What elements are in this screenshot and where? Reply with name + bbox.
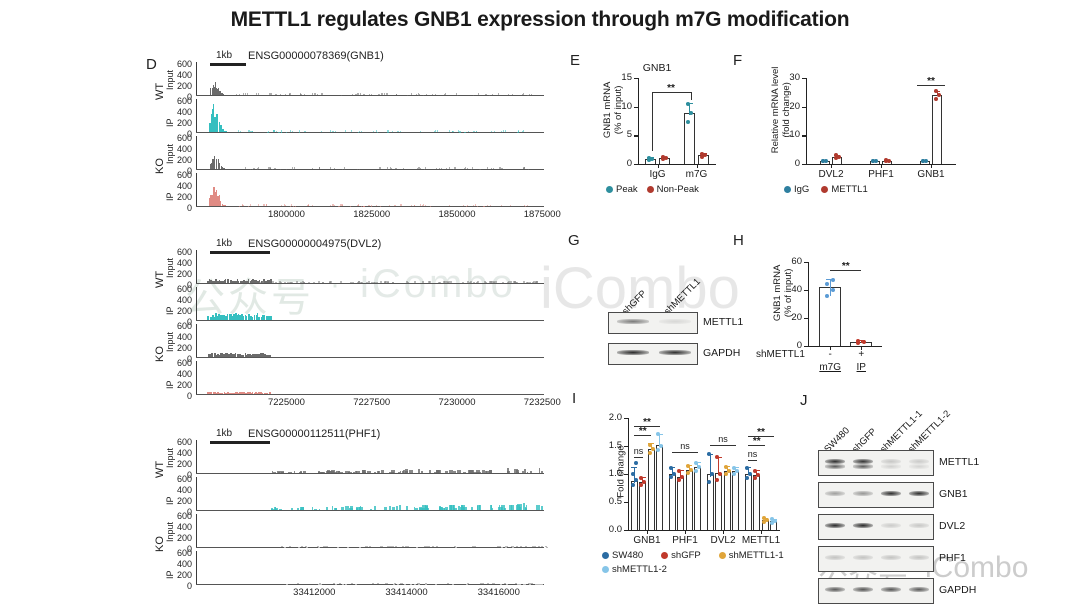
panel-i-legend: SW480shGFPshMETTL1-1shMETTL1-2 xyxy=(602,550,802,575)
xaxis-0-1 xyxy=(196,132,544,133)
ytick-2-3-1: 400 xyxy=(170,559,192,569)
ytick-2-0-0: 600 xyxy=(170,437,192,447)
peak-bar xyxy=(330,471,334,473)
peak-bar xyxy=(277,471,281,473)
peak-bar xyxy=(289,282,291,283)
bar-PHF1-shMETTL1-2 xyxy=(694,467,701,530)
peak-bar xyxy=(391,168,392,170)
panelJ-band-GAPDH-shMETTL1-1 xyxy=(881,587,902,593)
datapoint-h-0-0 xyxy=(825,294,829,298)
peak-bar xyxy=(281,546,283,547)
peak-bar xyxy=(498,93,499,95)
panelJ-band-DVL2-shMETTL1-2 xyxy=(909,523,930,529)
xtick-2-2: 33416000 xyxy=(465,587,533,598)
panel-h-chart: 0204060GNB1 mRNA(% of input)-m7G+IPshMET… xyxy=(760,248,900,373)
peak-bar xyxy=(514,281,516,283)
panelI-xlabel-3: METTL1 xyxy=(727,535,795,546)
panelJ-band-GAPDH-shMETTL1-2 xyxy=(909,587,930,593)
peak-bar xyxy=(339,583,341,584)
peak-bar xyxy=(287,282,289,283)
peak-bar xyxy=(501,168,502,169)
peak-bar xyxy=(314,509,318,510)
panel-i-chart: 0.00.51.01.52.0GNB1PHF1DVL2METTL1Fold ch… xyxy=(596,404,791,559)
peak-bar xyxy=(445,507,448,510)
peak-bar xyxy=(273,472,276,473)
peak-bar xyxy=(317,94,318,95)
peak-bar xyxy=(285,205,286,206)
peak-bar xyxy=(262,393,264,394)
peak-bar xyxy=(414,281,416,283)
peak-bar xyxy=(292,131,293,132)
peak-bar xyxy=(522,131,523,132)
peak-bar xyxy=(361,131,362,132)
panelJ-band-GNB1-shMETTL1-2 xyxy=(909,491,930,497)
panelH-ytickmark-2 xyxy=(804,290,808,291)
panelH-ytitle: GNB1 mRNA(% of input) xyxy=(773,243,795,343)
peak-bar xyxy=(381,546,383,547)
panel-e-legend-dot-1 xyxy=(647,186,654,193)
peak-bar xyxy=(372,583,374,584)
panel-e-legend: PeakNon-Peak xyxy=(606,184,736,195)
xaxis-1-3 xyxy=(196,394,544,395)
peak-bar xyxy=(435,130,436,132)
signal-2-1 xyxy=(197,477,543,510)
ytick-1-1-0: 600 xyxy=(170,284,192,294)
sig-line-i-mettl1-ns xyxy=(748,460,757,461)
sig-label-i-gnb1-b: ** xyxy=(629,417,665,428)
datapoint-GNB1-METTL1 xyxy=(937,93,941,97)
peak-bar xyxy=(487,205,488,206)
peak-bar xyxy=(252,131,253,132)
datapoint-PHF1-shGFP xyxy=(680,475,684,479)
panelJ-blot-name-GNB1: GNB1 xyxy=(939,488,968,500)
peak-bar xyxy=(448,281,450,283)
peak-bar xyxy=(454,167,455,169)
panel-i-legend-label-3: shMETTL1-2 xyxy=(612,564,667,575)
peak-bar xyxy=(215,279,217,283)
panelJ-band-PHF1-SW480 xyxy=(825,555,846,561)
peak-bar xyxy=(516,470,519,473)
panelI-ylabel-0: 0.0 xyxy=(590,524,622,535)
peak-bar xyxy=(539,468,540,473)
peak-bar xyxy=(492,508,493,510)
peak-bar xyxy=(351,130,352,132)
panel-letter-f: F xyxy=(733,52,742,69)
peak-bar xyxy=(254,168,255,169)
panelJ-blot-box-METTL1 xyxy=(818,450,934,476)
peak-bar xyxy=(294,167,295,169)
datapoint-DVL2-shGFP xyxy=(715,478,719,482)
track-title-1: ENSG00000004975(DVL2) xyxy=(248,238,381,250)
ytick-2-1-1: 400 xyxy=(170,485,192,495)
panelJ-band2-METTL1-shGFP xyxy=(853,464,874,469)
peak-bar xyxy=(449,470,453,473)
peak-bar xyxy=(476,131,477,132)
datapoint-GNB1-METTL1 xyxy=(934,97,938,101)
xtick-0-3: 1875000 xyxy=(508,209,576,220)
panel-i-legend-item-3: shMETTL1-2 xyxy=(602,564,667,575)
ytick-1-2-0: 600 xyxy=(170,321,192,331)
ytick-0-2-2: 200 xyxy=(170,155,192,165)
panelH-ytitle-line-1: (% of input) xyxy=(784,243,795,343)
peak-bar xyxy=(330,130,331,132)
peak-bar xyxy=(323,546,325,547)
peak-bar xyxy=(516,546,518,547)
datapoint-GNB1-SW480 xyxy=(631,483,635,487)
peak-bar xyxy=(445,93,446,95)
peak-bar xyxy=(262,281,264,283)
panel-i-legend-item-0: SW480 xyxy=(602,550,643,561)
peak-bar xyxy=(321,131,322,132)
panelI-xaxis xyxy=(628,530,780,531)
peak-bar xyxy=(491,131,492,132)
peak-bar xyxy=(466,584,468,585)
peak-bar xyxy=(473,282,475,283)
sig-label-i-mettl1-ns: ns xyxy=(735,449,771,459)
peak-bar xyxy=(304,94,305,95)
panel-i-legend-dot-1 xyxy=(661,552,668,559)
peak-bar xyxy=(499,505,501,510)
peak-bar xyxy=(250,204,251,206)
peak-bar xyxy=(216,159,217,169)
xaxis-0-0 xyxy=(196,95,544,96)
peak-bar xyxy=(380,281,382,283)
xaxis-2-3 xyxy=(196,584,544,585)
peak-bar xyxy=(224,205,225,206)
datapoint-IgG-Peak xyxy=(647,156,651,160)
ytick-0-0-1: 400 xyxy=(170,70,192,80)
peak-bar xyxy=(256,93,257,95)
peak-bar xyxy=(491,168,492,169)
peak-bar xyxy=(471,470,475,473)
peak-bar xyxy=(399,505,402,510)
panelJ-band-DVL2-shGFP xyxy=(853,523,874,529)
peak-bar xyxy=(418,167,419,169)
xaxis-0-3 xyxy=(196,206,544,207)
peak-bar xyxy=(463,472,466,473)
panelH-ytickmark-1 xyxy=(804,318,808,319)
peak-bar xyxy=(288,472,292,473)
panel-f-legend-dot-1 xyxy=(821,186,828,193)
panel-letter-d: D xyxy=(146,56,157,73)
peak-bar xyxy=(518,130,519,132)
bar-METTL1-shGFP xyxy=(753,475,760,530)
panelG-blot-name-METTL1: METTL1 xyxy=(703,316,743,328)
panelJ-band-PHF1-shMETTL1-2 xyxy=(909,555,930,561)
panelG-blot-box-GAPDH xyxy=(608,343,698,365)
panelE-ytitle-line-1: (% of input) xyxy=(614,60,625,160)
panelG-band-GAPDH-shGFP xyxy=(617,350,648,355)
peak-bar xyxy=(467,168,468,169)
peak-bar xyxy=(366,282,368,283)
peak-bar xyxy=(471,507,473,510)
peak-bar xyxy=(304,131,305,132)
peak-bar xyxy=(439,282,441,283)
panel-e-legend-dot-0 xyxy=(606,186,613,193)
ytick-2-2-0: 600 xyxy=(170,511,192,521)
ytick-0-0-0: 600 xyxy=(170,59,192,69)
peak-bar xyxy=(507,471,510,473)
bar-PHF1-shMETTL1-1 xyxy=(686,470,693,530)
peak-bar xyxy=(366,546,368,547)
peak-bar xyxy=(454,508,458,510)
peak-bar xyxy=(332,506,333,510)
peak-bar xyxy=(359,131,360,132)
peak-bar xyxy=(381,470,383,473)
xaxis-2-2 xyxy=(196,547,544,548)
panel-i-legend-label-0: SW480 xyxy=(612,550,643,561)
panel-e-legend-item-0: Peak xyxy=(606,184,638,195)
panel-letter-g: G xyxy=(568,232,580,249)
panelF-xtickmark-0 xyxy=(831,164,832,168)
sig-label-i-gnb1-ns: ns xyxy=(621,446,657,456)
peak-bar xyxy=(319,509,321,510)
sig-label-h-main: ** xyxy=(828,261,864,272)
peak-bar xyxy=(414,205,415,206)
peak-bar xyxy=(266,204,267,206)
peak-bar xyxy=(531,583,533,584)
peak-bar xyxy=(475,204,476,206)
xtick-1-2: 7230000 xyxy=(423,397,491,408)
peak-bar xyxy=(489,281,491,283)
peak-bar xyxy=(332,131,333,132)
peak-bar xyxy=(468,131,469,132)
panelJ-blot-name-DVL2: DVL2 xyxy=(939,520,965,532)
panel-e-legend-item-1: Non-Peak xyxy=(647,184,699,195)
ytick-0-1-0: 600 xyxy=(170,96,192,106)
panelG-band-GAPDH-shMETTL1 xyxy=(659,350,690,355)
peak-bar xyxy=(312,93,313,95)
ytick-1-2-2: 200 xyxy=(170,343,192,353)
bar-GNB1-shGFP xyxy=(639,482,646,530)
peak-bar xyxy=(345,130,346,132)
panel-f-legend-item-1: METTL1 xyxy=(821,184,867,195)
peak-bar xyxy=(497,546,499,547)
peak-bar xyxy=(273,130,274,132)
peak-bar xyxy=(289,546,291,547)
peak-bar xyxy=(294,471,296,473)
peak-bar xyxy=(361,282,363,283)
ytick-1-2-1: 400 xyxy=(170,332,192,342)
peak-bar xyxy=(341,507,343,510)
peak-bar xyxy=(239,315,241,320)
peak-bar xyxy=(447,583,449,584)
panel-letter-i: I xyxy=(572,390,576,407)
peak-bar xyxy=(387,282,389,283)
peak-bar xyxy=(225,131,226,132)
peak-bar xyxy=(279,509,282,510)
ytick-2-1-0: 600 xyxy=(170,474,192,484)
peak-bar xyxy=(242,205,243,206)
panel-e-legend-label-0: Peak xyxy=(616,184,638,195)
peak-bar xyxy=(477,472,481,473)
panelF-ytickmark-1 xyxy=(802,135,806,136)
ytick-0-3-2: 200 xyxy=(170,192,192,202)
peak-bar xyxy=(520,546,522,547)
peak-bar xyxy=(370,509,372,510)
peak-bar xyxy=(420,204,421,206)
panelF-xtickmark-1 xyxy=(881,164,882,168)
peak-bar xyxy=(420,168,421,169)
ytick-0-1-1: 400 xyxy=(170,107,192,117)
ytick-1-0-1: 400 xyxy=(170,258,192,268)
peak-bar xyxy=(535,282,537,283)
peak-bar xyxy=(334,168,335,169)
peak-bar xyxy=(505,130,506,132)
peak-bar xyxy=(511,546,513,547)
panel-f-legend-dot-0 xyxy=(784,186,791,193)
panelH-condition-label: shMETTL1 xyxy=(756,349,805,360)
peak-bar xyxy=(313,282,315,283)
peak-bar xyxy=(425,583,427,584)
panelE-ytickmark-2 xyxy=(634,107,638,108)
peak-bar xyxy=(534,546,536,547)
peak-bar xyxy=(473,131,474,132)
ytick-2-2-2: 200 xyxy=(170,533,192,543)
xaxis-2-1 xyxy=(196,510,544,511)
peak-bar xyxy=(376,205,377,206)
peak-bar xyxy=(326,471,330,473)
signal-0-1 xyxy=(197,99,543,132)
signal-1-1 xyxy=(197,287,543,320)
peak-bar xyxy=(478,93,479,95)
peak-bar xyxy=(384,281,386,283)
peak-bar xyxy=(467,205,468,206)
ytick-1-0-2: 200 xyxy=(170,269,192,279)
panelJ-blot-box-GAPDH xyxy=(818,578,934,604)
peak-bar xyxy=(380,167,381,169)
bar-GNB1-shMETTL1-1 xyxy=(648,449,655,530)
peak-bar xyxy=(458,130,459,132)
peak-bar xyxy=(480,583,482,584)
peak-bar xyxy=(351,583,353,584)
xaxis-1-2 xyxy=(196,357,544,358)
peak-bar xyxy=(367,471,371,473)
panelJ-band2-METTL1-SW480 xyxy=(825,464,846,469)
peak-bar xyxy=(418,469,420,473)
ytick-0-1-2: 200 xyxy=(170,118,192,128)
peak-bar xyxy=(425,205,426,206)
xtick-1-3: 7232500 xyxy=(508,397,576,408)
xtick-2-1: 33414000 xyxy=(373,587,441,598)
ytick-2-0-1: 400 xyxy=(170,448,192,458)
ytick-0-2-1: 400 xyxy=(170,144,192,154)
ytick-0-2-0: 600 xyxy=(170,133,192,143)
peak-bar xyxy=(522,471,524,473)
panel-i-legend-item-2: shMETTL1-1 xyxy=(719,550,784,561)
peak-bar xyxy=(429,281,431,283)
peak-bar xyxy=(210,88,211,95)
peak-bar xyxy=(403,168,404,169)
peak-bar xyxy=(425,167,426,169)
peak-bar xyxy=(329,281,331,283)
peak-bar xyxy=(493,168,494,170)
peak-bar xyxy=(479,505,481,510)
peak-bar xyxy=(258,167,259,169)
peak-bar xyxy=(406,506,408,510)
peak-bar xyxy=(281,205,282,206)
sig-label-f-gnb1: ** xyxy=(913,76,949,87)
datapoint-GNB1-SW480 xyxy=(631,472,635,476)
peak-bar xyxy=(225,279,227,283)
peak-bar xyxy=(355,471,357,473)
peak-bar xyxy=(407,546,409,547)
peak-bar xyxy=(528,583,530,584)
peak-bar xyxy=(402,546,404,547)
peak-bar xyxy=(275,282,277,283)
peak-bar xyxy=(453,471,456,473)
peak-bar xyxy=(473,205,474,206)
panelJ-band-GNB1-shGFP xyxy=(853,491,874,497)
datapoint-h-1-2 xyxy=(856,339,860,343)
peak-bar xyxy=(482,470,485,473)
peak-bar xyxy=(386,93,387,95)
bar-GNB1-SW480 xyxy=(631,481,638,530)
peak-bar xyxy=(348,471,349,473)
panel-letter-h: H xyxy=(733,232,744,249)
panelJ-band-GNB1-shMETTL1-1 xyxy=(881,491,902,497)
bar-PHF1-shGFP xyxy=(677,477,684,530)
peak-bar xyxy=(472,546,474,547)
panelI-xtickmark-0 xyxy=(647,530,648,534)
peak-bar xyxy=(319,167,320,169)
peak-bar xyxy=(525,546,527,547)
peak-bar xyxy=(318,281,320,283)
bar-METTL1-SW480 xyxy=(745,474,752,530)
panelJ-band-DVL2-shMETTL1-1 xyxy=(881,523,902,529)
panelE-xtickmark-0 xyxy=(658,164,659,168)
peak-bar xyxy=(247,93,248,95)
peak-bar xyxy=(236,392,238,394)
peak-bar xyxy=(401,583,403,584)
bar-GNB1-shMETTL1-2 xyxy=(656,445,663,530)
peak-bar xyxy=(274,507,275,510)
peak-bar xyxy=(362,470,366,473)
bar-GNB1-METTL1 xyxy=(932,95,942,164)
peak-bar xyxy=(387,546,389,547)
peak-bar xyxy=(411,93,412,95)
peak-bar xyxy=(432,546,434,547)
peak-bar xyxy=(350,282,352,283)
xaxis-1-0 xyxy=(196,283,544,284)
peak-bar xyxy=(527,205,528,206)
peak-bar xyxy=(392,507,395,510)
peak-bar xyxy=(439,168,440,169)
peak-bar xyxy=(422,281,424,283)
peak-bar xyxy=(245,167,246,169)
peak-bar xyxy=(389,205,390,206)
datapoint-PHF1-shMETTL1-1 xyxy=(686,464,690,468)
panelH-xlabel-1: IP xyxy=(831,362,891,373)
sig-line-i-gnb1-ns xyxy=(634,457,643,458)
panelI-ytickmark-0 xyxy=(624,530,628,531)
peak-bar xyxy=(400,204,401,206)
panelE-ytickmark-3 xyxy=(634,78,638,79)
panelI-xtickmark-3 xyxy=(761,530,762,534)
peak-bar xyxy=(460,131,461,132)
peak-bar xyxy=(280,282,282,283)
peak-bar xyxy=(462,282,464,283)
sig-line-i-phf1-ns xyxy=(672,452,698,453)
peak-bar xyxy=(436,470,440,473)
peak-bar xyxy=(342,204,343,206)
datapoint-m7G-Peak xyxy=(689,111,693,115)
peak-bar xyxy=(303,471,306,473)
peak-bar xyxy=(268,131,269,132)
peak-bar xyxy=(300,94,301,95)
panelH-condition-0: - xyxy=(814,349,846,360)
signal-1-3 xyxy=(197,361,543,394)
